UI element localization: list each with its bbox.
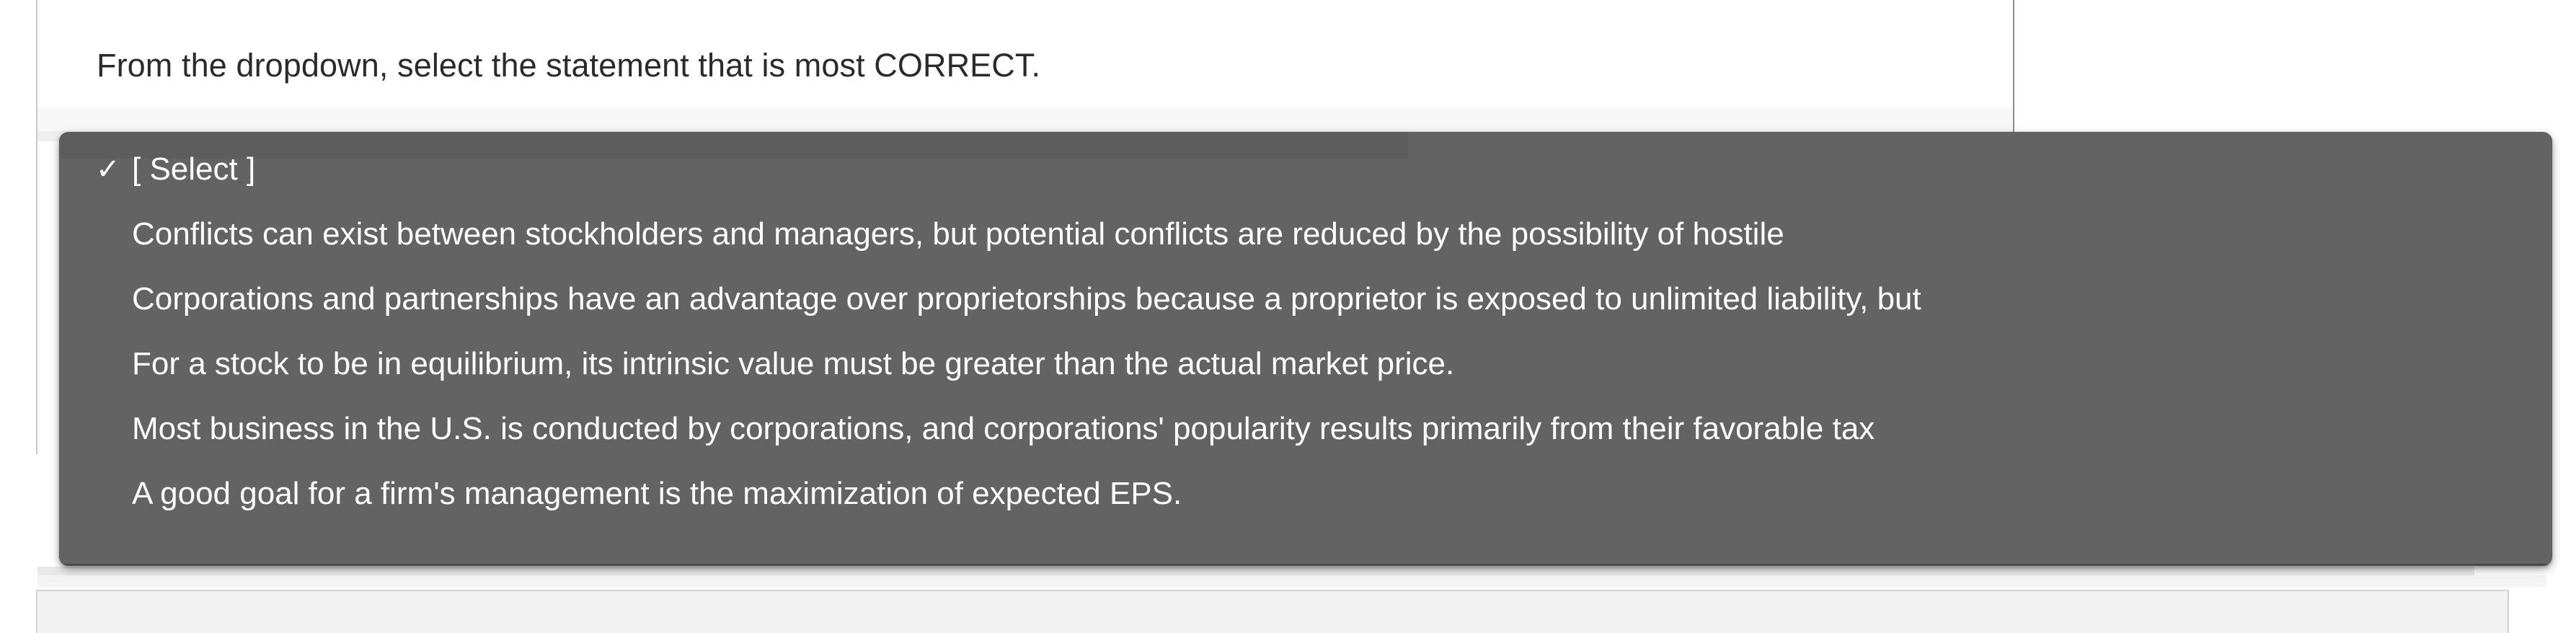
- dropdown-option-4[interactable]: Most business in the U.S. is conducted b…: [60, 397, 2551, 461]
- lower-panel: [36, 590, 2509, 633]
- dropdown-option-label: [ Select ]: [132, 137, 255, 202]
- dropdown-option-label: Corporations and partnerships have an ad…: [132, 267, 1921, 332]
- dropdown-option-5[interactable]: A good goal for a firm's management is t…: [60, 461, 2551, 526]
- popup-under-strip-secondary: [37, 575, 2546, 587]
- dropdown-option-1[interactable]: Conflicts can exist between stockholders…: [60, 202, 2551, 267]
- question-prompt: From the dropdown, select the statement …: [97, 45, 1040, 87]
- dropdown-option-label: Conflicts can exist between stockholders…: [132, 202, 1784, 267]
- page-root: From the dropdown, select the statement …: [0, 0, 2576, 614]
- checkmark-icon: ✓: [96, 137, 132, 202]
- popup-bottom-rule: [60, 564, 2551, 565]
- dropdown-option-3[interactable]: For a stock to be in equilibrium, its in…: [60, 332, 2551, 397]
- left-gutter: [0, 0, 36, 614]
- dropdown-option-label: A good goal for a firm's management is t…: [132, 461, 1182, 526]
- statement-dropdown-popup[interactable]: ✓ [ Select ] Conflicts can exist between…: [59, 132, 2552, 566]
- dropdown-option-2[interactable]: Corporations and partnerships have an ad…: [60, 267, 2551, 332]
- dropdown-option-label: Most business in the U.S. is conducted b…: [132, 397, 1875, 461]
- dropdown-option-0[interactable]: ✓ [ Select ]: [60, 137, 2551, 202]
- dropdown-option-label: For a stock to be in equilibrium, its in…: [132, 332, 1454, 397]
